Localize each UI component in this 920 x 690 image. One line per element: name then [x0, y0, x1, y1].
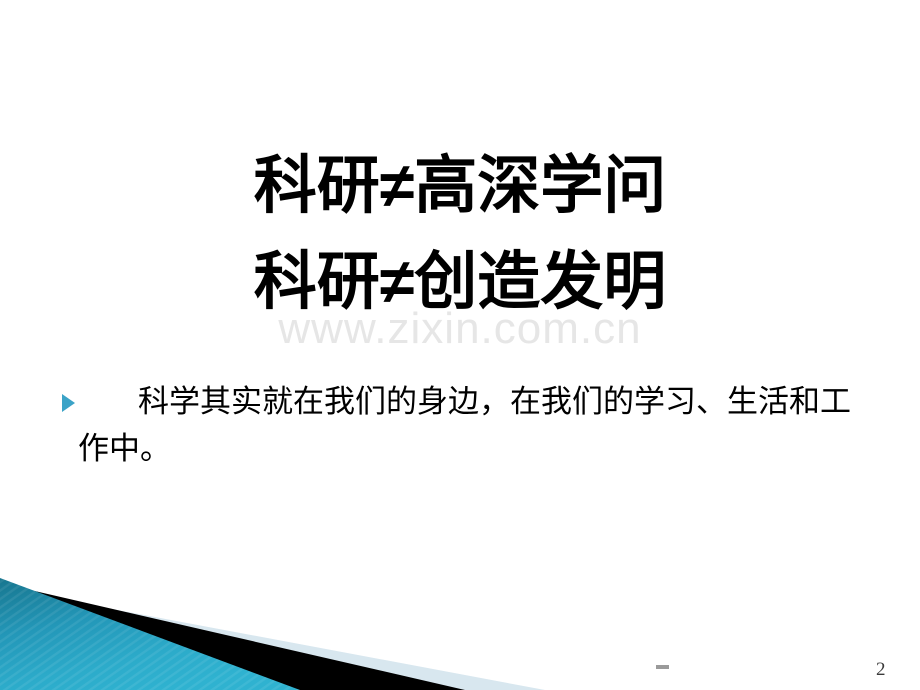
page-number: 2	[876, 659, 886, 681]
diagonal-corner-graphic	[0, 555, 920, 690]
slide-body: 科学其实就在我们的身边，在我们的学习、生活和工作中。	[58, 378, 868, 472]
body-paragraph: 科学其实就在我们的身边，在我们的学习、生活和工作中。	[58, 378, 868, 472]
presentation-slide: 科研≠高深学问 科研≠创造发明 www.zixin.com.cn 科学其实就在我…	[0, 0, 920, 690]
slide-title: 科研≠高深学问 科研≠创造发明	[0, 138, 920, 330]
footer-dash	[656, 665, 669, 669]
triangle-right-icon	[62, 394, 75, 412]
title-line-1: 科研≠高深学问	[0, 138, 920, 234]
title-line-2: 科研≠创造发明	[0, 234, 920, 330]
